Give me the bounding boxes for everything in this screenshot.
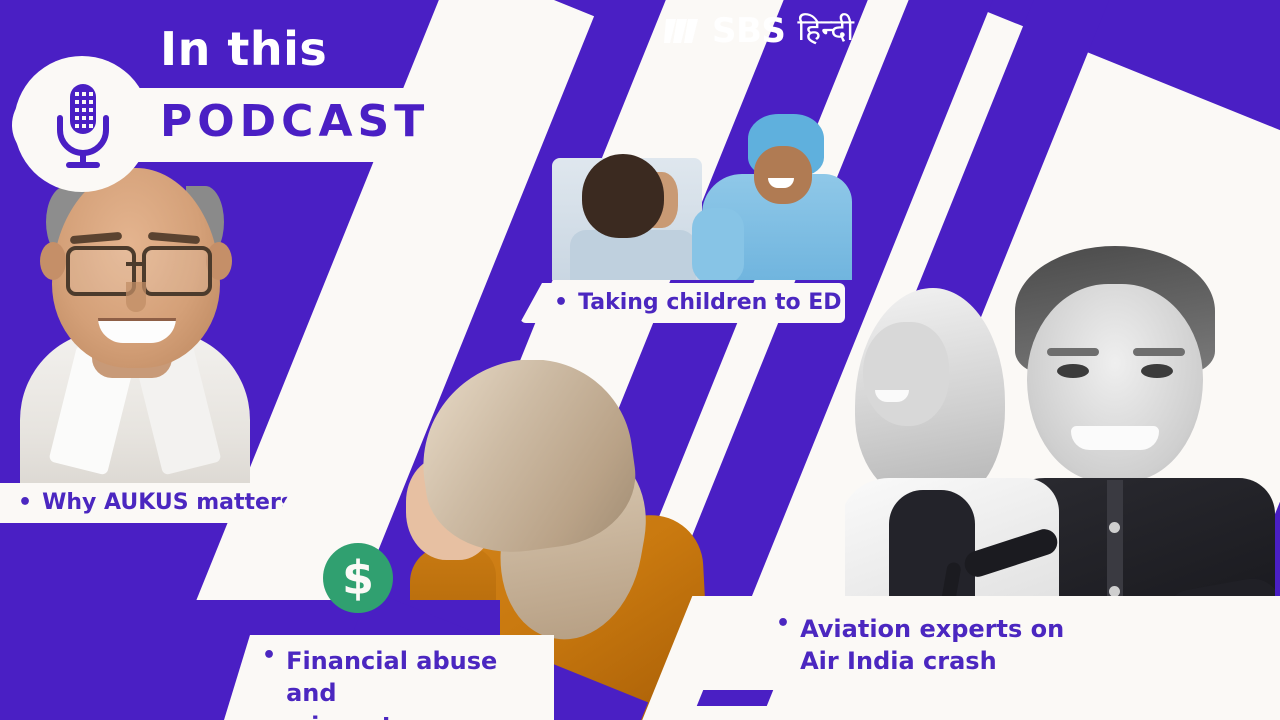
- intro-line-in-this: In this: [160, 26, 327, 72]
- bullet-icon: •: [776, 613, 790, 635]
- topic-pill-aukus[interactable]: • Why AUKUS matters: [0, 483, 295, 523]
- sbs-wordmark: SBS: [712, 14, 785, 48]
- photo-nurse-and-child: [552, 112, 860, 280]
- photo-man-with-glasses: [0, 150, 262, 488]
- sbs-swoosh-icon: [664, 15, 704, 47]
- bullet-icon: •: [554, 292, 568, 314]
- topic-pill-financial[interactable]: • Financial abuse and migrant women: [224, 635, 554, 720]
- dollar-icon: $: [323, 543, 393, 613]
- topic-label-aukus: Why AUKUS matters: [42, 488, 294, 518]
- bullet-icon: •: [18, 492, 32, 514]
- topic-pill-aviation[interactable]: • Aviation experts on Air India crash: [770, 605, 1100, 690]
- topic-label-ed: Taking children to ED: [578, 288, 841, 318]
- bottom-accent-bar: [697, 690, 773, 706]
- photo-aviation-experts: [845, 240, 1275, 640]
- topic-label-financial: Financial abuse and migrant women: [286, 645, 554, 720]
- topic-pill-ed[interactable]: • Taking children to ED: [520, 283, 845, 323]
- sbs-brand-logo: SBS हिन्दी: [664, 14, 854, 48]
- sbs-language-label: हिन्दी: [797, 16, 854, 46]
- page-title: PODCAST: [160, 100, 429, 144]
- topic-label-aviation: Aviation experts on Air India crash: [800, 613, 1064, 678]
- podcast-promo-canvas: SBS हिन्दी In this PODCAST • Taking chil…: [0, 0, 1280, 720]
- dollar-glyph: $: [342, 555, 374, 601]
- bullet-icon: •: [262, 645, 276, 667]
